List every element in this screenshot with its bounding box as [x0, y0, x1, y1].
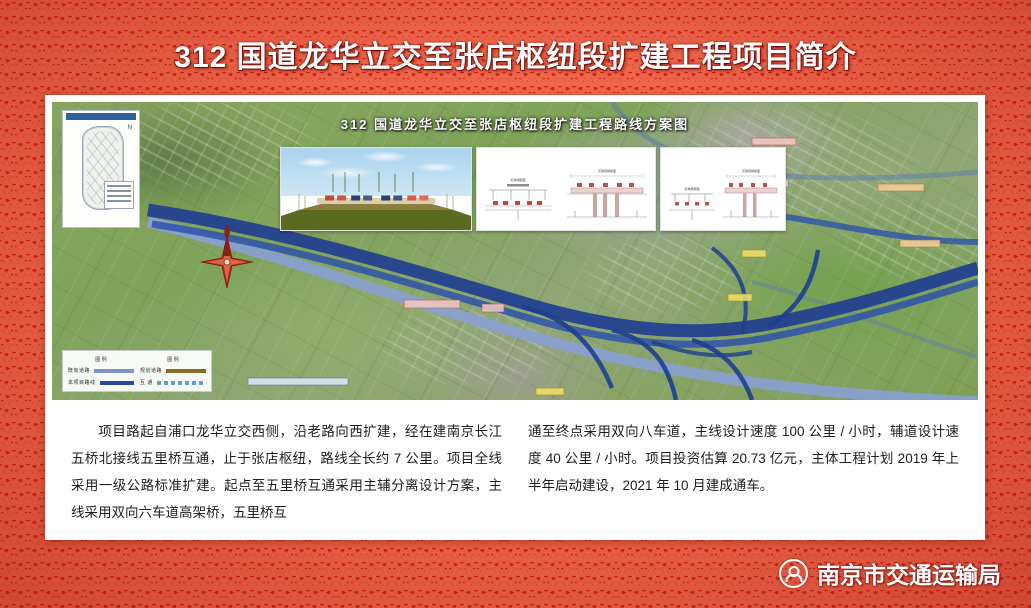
- svg-text:标准横断面: 标准横断面: [510, 177, 525, 182]
- legend-item: 互 通: [140, 379, 206, 386]
- panel-section-b[interactable]: 标准横断面 高架桥横断面: [660, 147, 786, 231]
- nanjing-transport-emblem-icon: [779, 559, 808, 588]
- map-legend: 图 例 图 例 既有道路 规划道路 本项目路线 互 通: [62, 350, 212, 392]
- footer-logo: 南京市交通运输局: [779, 556, 1001, 590]
- organization-name: 南京市交通运输局: [817, 556, 1001, 590]
- legend-swatch: [100, 381, 134, 385]
- inset-map-header: [66, 113, 136, 120]
- inset-north-label: N: [128, 125, 132, 131]
- description-text-right: 通至终点采用双向八车道，主线设计速度 100 公里 / 小时，辅道设计速度 40…: [528, 424, 959, 493]
- page-title: 312 国道龙华立交至张店枢纽段扩建工程项目简介: [174, 32, 856, 76]
- inset-locator-map[interactable]: N: [62, 110, 140, 228]
- legend-swatch: [157, 381, 206, 385]
- project-description: 项目路起自浦口龙华立交西侧，沿老路向西扩建，经在建南京长江五桥北接线五里桥互通，…: [45, 400, 985, 540]
- legend-swatch: [166, 369, 206, 373]
- legend-item: 规划道路: [140, 367, 206, 374]
- inset-map-body: N: [66, 123, 136, 211]
- description-column-left: 项目路起自浦口龙华立交西侧，沿老路向西扩建，经在建南京长江五桥北接线五里桥互通，…: [71, 418, 502, 530]
- inset-map-legend: [104, 181, 134, 209]
- legend-label: 互 通: [140, 379, 153, 386]
- legend-swatch: [94, 369, 134, 373]
- route-plan-map[interactable]: 312 国道龙华立交至张店枢纽段扩建工程路线方案图 N: [52, 102, 978, 400]
- legend-label: 本项目路线: [68, 379, 96, 386]
- map-title: 312 国道龙华立交至张店枢纽段扩建工程路线方案图: [52, 114, 978, 133]
- legend-label: 规划道路: [140, 367, 162, 374]
- panel-section-a[interactable]: 标准横断面: [476, 147, 656, 231]
- legend-item: 既有道路: [68, 367, 134, 374]
- cross-section-drawing-b: 标准横断面 高架桥横断面: [661, 148, 785, 230]
- panel-rendering[interactable]: [280, 147, 472, 231]
- svg-text:高架桥横断面: 高架桥横断面: [742, 168, 760, 173]
- content-card: 312 国道龙华立交至张店枢纽段扩建工程路线方案图 N: [45, 95, 985, 540]
- legend-header-right: 图 例: [140, 356, 206, 363]
- description-text-left: 项目路起自浦口龙华立交西侧，沿老路向西扩建，经在建南京长江五桥北接线五里桥互通，…: [71, 424, 502, 520]
- rendering-poles: [281, 148, 471, 230]
- cross-section-drawing-a: 标准横断面: [477, 148, 655, 230]
- legend-item: 本项目路线: [68, 379, 134, 386]
- svg-text:标准横断面: 标准横断面: [684, 186, 699, 191]
- svg-text:高架桥横断面: 高架桥横断面: [598, 168, 616, 173]
- poster-root: 312 国道龙华立交至张店枢纽段扩建工程项目简介: [0, 0, 1031, 608]
- north-arrow-icon: [194, 224, 260, 290]
- legend-label: 既有道路: [68, 367, 90, 374]
- description-column-right: 通至终点采用双向八车道，主线设计速度 100 公里 / 小时，辅道设计速度 40…: [528, 418, 959, 530]
- legend-header-left: 图 例: [68, 356, 134, 363]
- poster-title-band: 312 国道龙华立交至张店枢纽段扩建工程项目简介: [0, 28, 1031, 80]
